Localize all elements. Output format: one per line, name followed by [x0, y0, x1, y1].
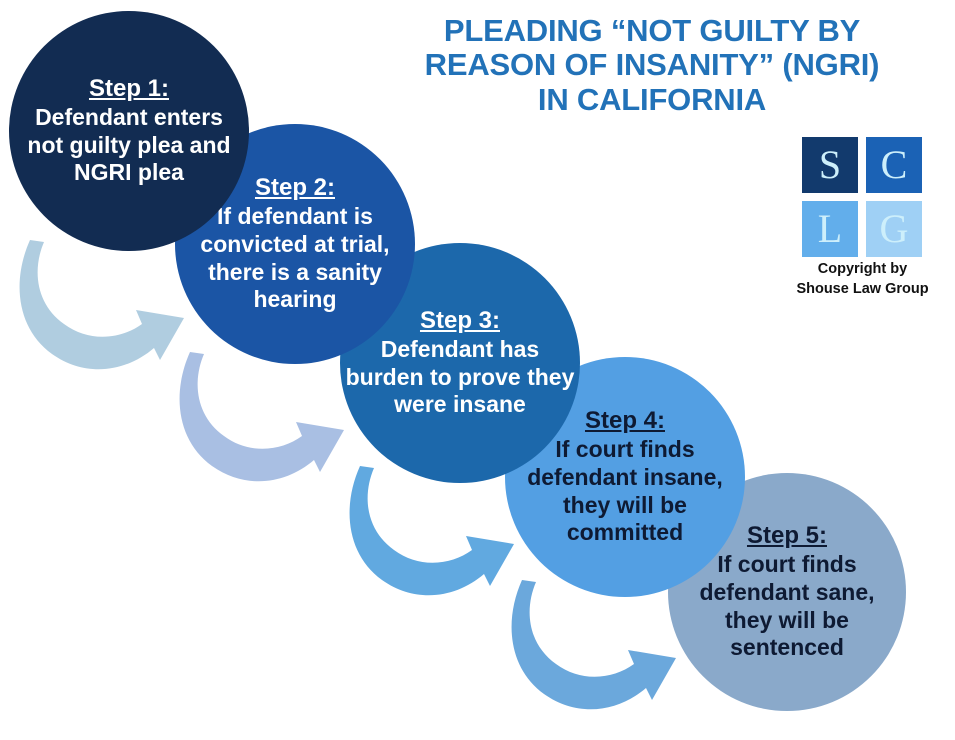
step-3-body: Defendant has burden to prove they were … — [340, 336, 580, 419]
step-1-body: Defendant enters not guilty plea and NGR… — [9, 104, 249, 187]
page-title: PLEADING “NOT GUILTY BY REASON OF INSANI… — [360, 14, 944, 117]
infographic-canvas: PLEADING “NOT GUILTY BY REASON OF INSANI… — [0, 0, 955, 740]
copyright-line-1: Copyright by — [770, 259, 955, 279]
arrow-step2-to-step3-icon — [168, 348, 358, 496]
step-2-body: If defendant is convicted at trial, ther… — [175, 203, 415, 314]
step-4-label: Step 4: — [585, 407, 665, 435]
copyright-notice: Copyright by Shouse Law Group — [770, 259, 955, 300]
logo-letter-s: S — [802, 137, 858, 193]
title-line-1: PLEADING “NOT GUILTY BY — [360, 14, 944, 48]
title-line-3: IN CALIFORNIA — [360, 83, 944, 117]
logo-letter-l: L — [802, 201, 858, 257]
step-1-label: Step 1: — [89, 75, 169, 103]
logo-letter-c: C — [866, 137, 922, 193]
sclg-logo: S C L G — [802, 137, 922, 257]
step-2-label: Step 2: — [255, 174, 335, 202]
title-line-2: REASON OF INSANITY” (NGRI) — [360, 48, 944, 82]
step-5-label: Step 5: — [747, 522, 827, 550]
arrow-step4-to-step5-icon — [500, 576, 690, 728]
copyright-line-2: Shouse Law Group — [770, 279, 955, 299]
step-4-body: If court finds defendant insane, they wi… — [505, 436, 745, 547]
step-3-label: Step 3: — [420, 307, 500, 335]
step-circle-1: Step 1: Defendant enters not guilty plea… — [9, 11, 249, 251]
logo-letter-g: G — [866, 201, 922, 257]
